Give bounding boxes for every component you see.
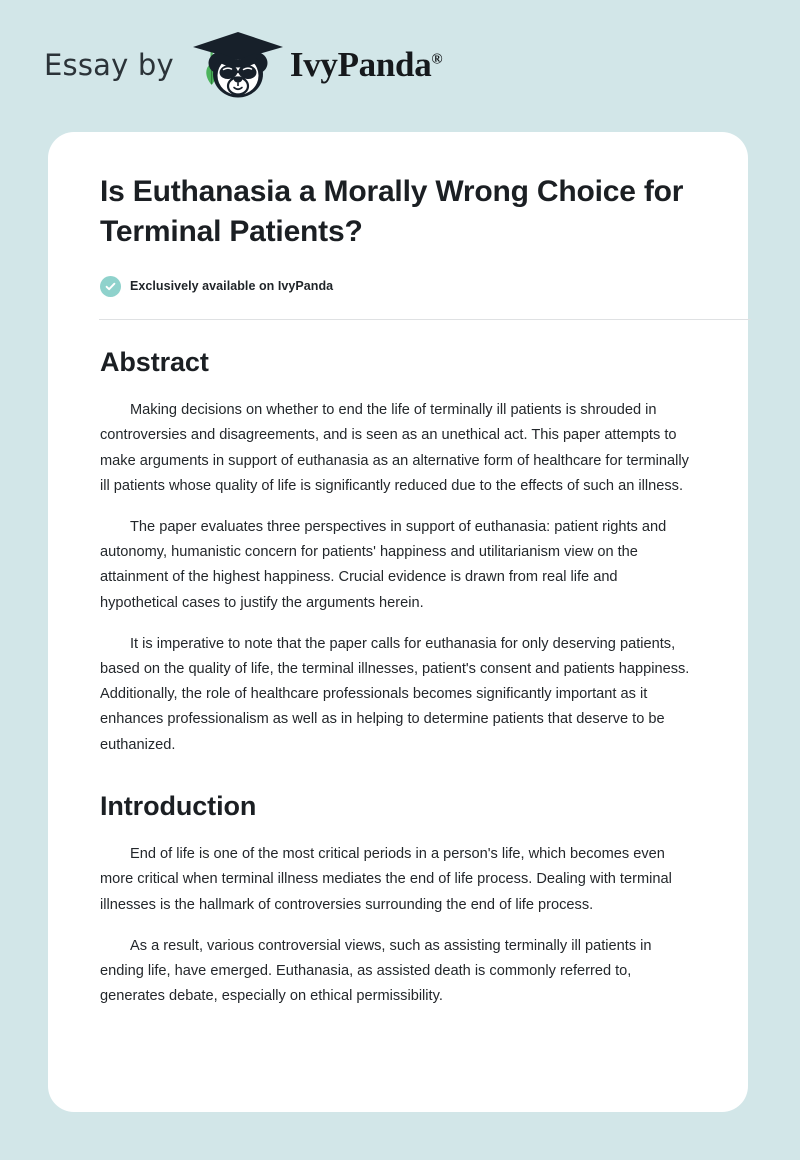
introduction-paragraph-2: As a result, various controversial views… (100, 934, 696, 1010)
introduction-paragraph-1: End of life is one of the most critical … (100, 842, 696, 918)
abstract-paragraph-2: The paper evaluates three perspectives i… (100, 515, 696, 616)
ivypanda-graduation-panda-logo-icon[interactable] (190, 29, 286, 103)
section-heading-abstract: Abstract (100, 346, 696, 378)
section-heading-introduction: Introduction (100, 790, 696, 822)
status-badge: Exclusively available on IvyPanda (100, 276, 696, 297)
essay-by-label: Essay by (44, 51, 174, 82)
page-title: Is Euthanasia a Morally Wrong Choice for… (100, 172, 696, 252)
check-circle-icon (100, 276, 121, 297)
brand-name-text: IvyPanda (290, 45, 432, 84)
essay-card: Is Euthanasia a Morally Wrong Choice for… (48, 132, 748, 1112)
brand-wordmark[interactable]: IvyPanda® (290, 47, 442, 85)
abstract-paragraph-3: It is imperative to note that the paper … (100, 632, 696, 758)
site-header: Essay by (0, 0, 800, 132)
header-divider (99, 319, 751, 320)
status-badge-label: Exclusively available on IvyPanda (130, 279, 333, 293)
abstract-paragraph-1: Making decisions on whether to end the l… (100, 398, 696, 499)
registered-trademark-symbol: ® (431, 51, 442, 67)
